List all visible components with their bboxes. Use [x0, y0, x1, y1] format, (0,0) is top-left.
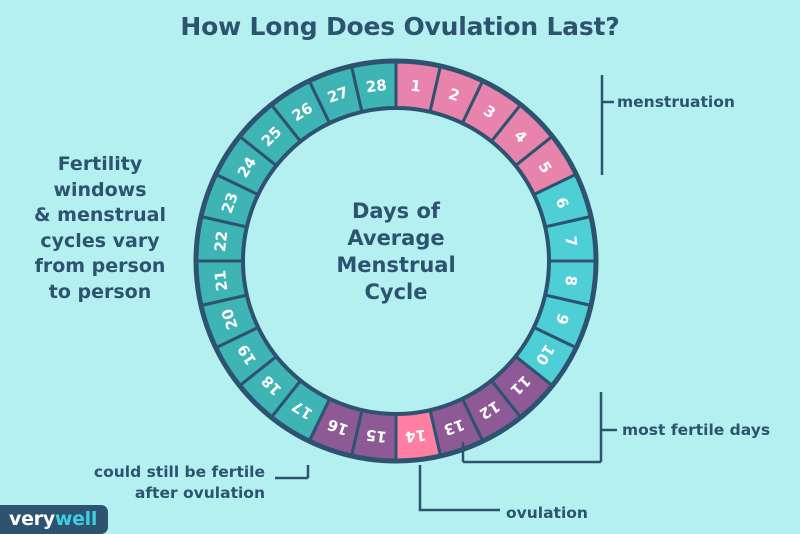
verywell-logo[interactable]: verywell	[0, 505, 108, 534]
annotation-ovulation: ovulation	[506, 503, 588, 524]
logo-text-very: very	[9, 508, 55, 530]
annotation-menstruation: menstruation	[617, 92, 735, 113]
variability-note-line: cycles vary	[10, 229, 190, 255]
cycle-day-label-15: 15	[365, 426, 388, 446]
variability-note-line: to person	[10, 280, 190, 306]
cycle-day-label-8: 8	[561, 275, 580, 287]
center-label-line: Days of	[296, 198, 496, 225]
center-label-line: Cycle	[296, 279, 496, 306]
annotation-most-fertile-days: most fertile days	[622, 420, 770, 441]
cycle-day-label-21: 21	[211, 269, 231, 292]
variability-note-line: Fertility	[10, 152, 190, 178]
leader-line-menstruation	[602, 75, 614, 175]
cycle-day-label-28: 28	[365, 76, 388, 96]
variability-note-line: & menstrual	[10, 203, 190, 229]
cycle-day-label-1: 1	[410, 77, 422, 96]
cycle-day-label-7: 7	[561, 235, 580, 247]
leader-line-could-still-be-fertile	[275, 465, 308, 478]
annotation-could-still-be-fertile: could still be fertile after ovulation	[45, 462, 265, 504]
center-label-line: Menstrual	[296, 252, 496, 279]
annotation-line: after ovulation	[45, 483, 265, 504]
leader-line-ovulation	[420, 465, 500, 510]
variability-note: Fertility windows & menstrual cycles var…	[10, 152, 190, 305]
annotation-line: could still be fertile	[45, 462, 265, 483]
center-label-line: Average	[296, 225, 496, 252]
center-label: Days of Average Menstrual Cycle	[296, 198, 496, 306]
cycle-day-label-14: 14	[404, 426, 427, 446]
cycle-day-label-22: 22	[211, 230, 231, 253]
variability-note-line: windows	[10, 178, 190, 204]
logo-text-well: well	[55, 508, 97, 530]
variability-note-line: from person	[10, 254, 190, 280]
infographic-canvas: How Long Does Ovulation Last? 1234567891…	[0, 0, 800, 534]
